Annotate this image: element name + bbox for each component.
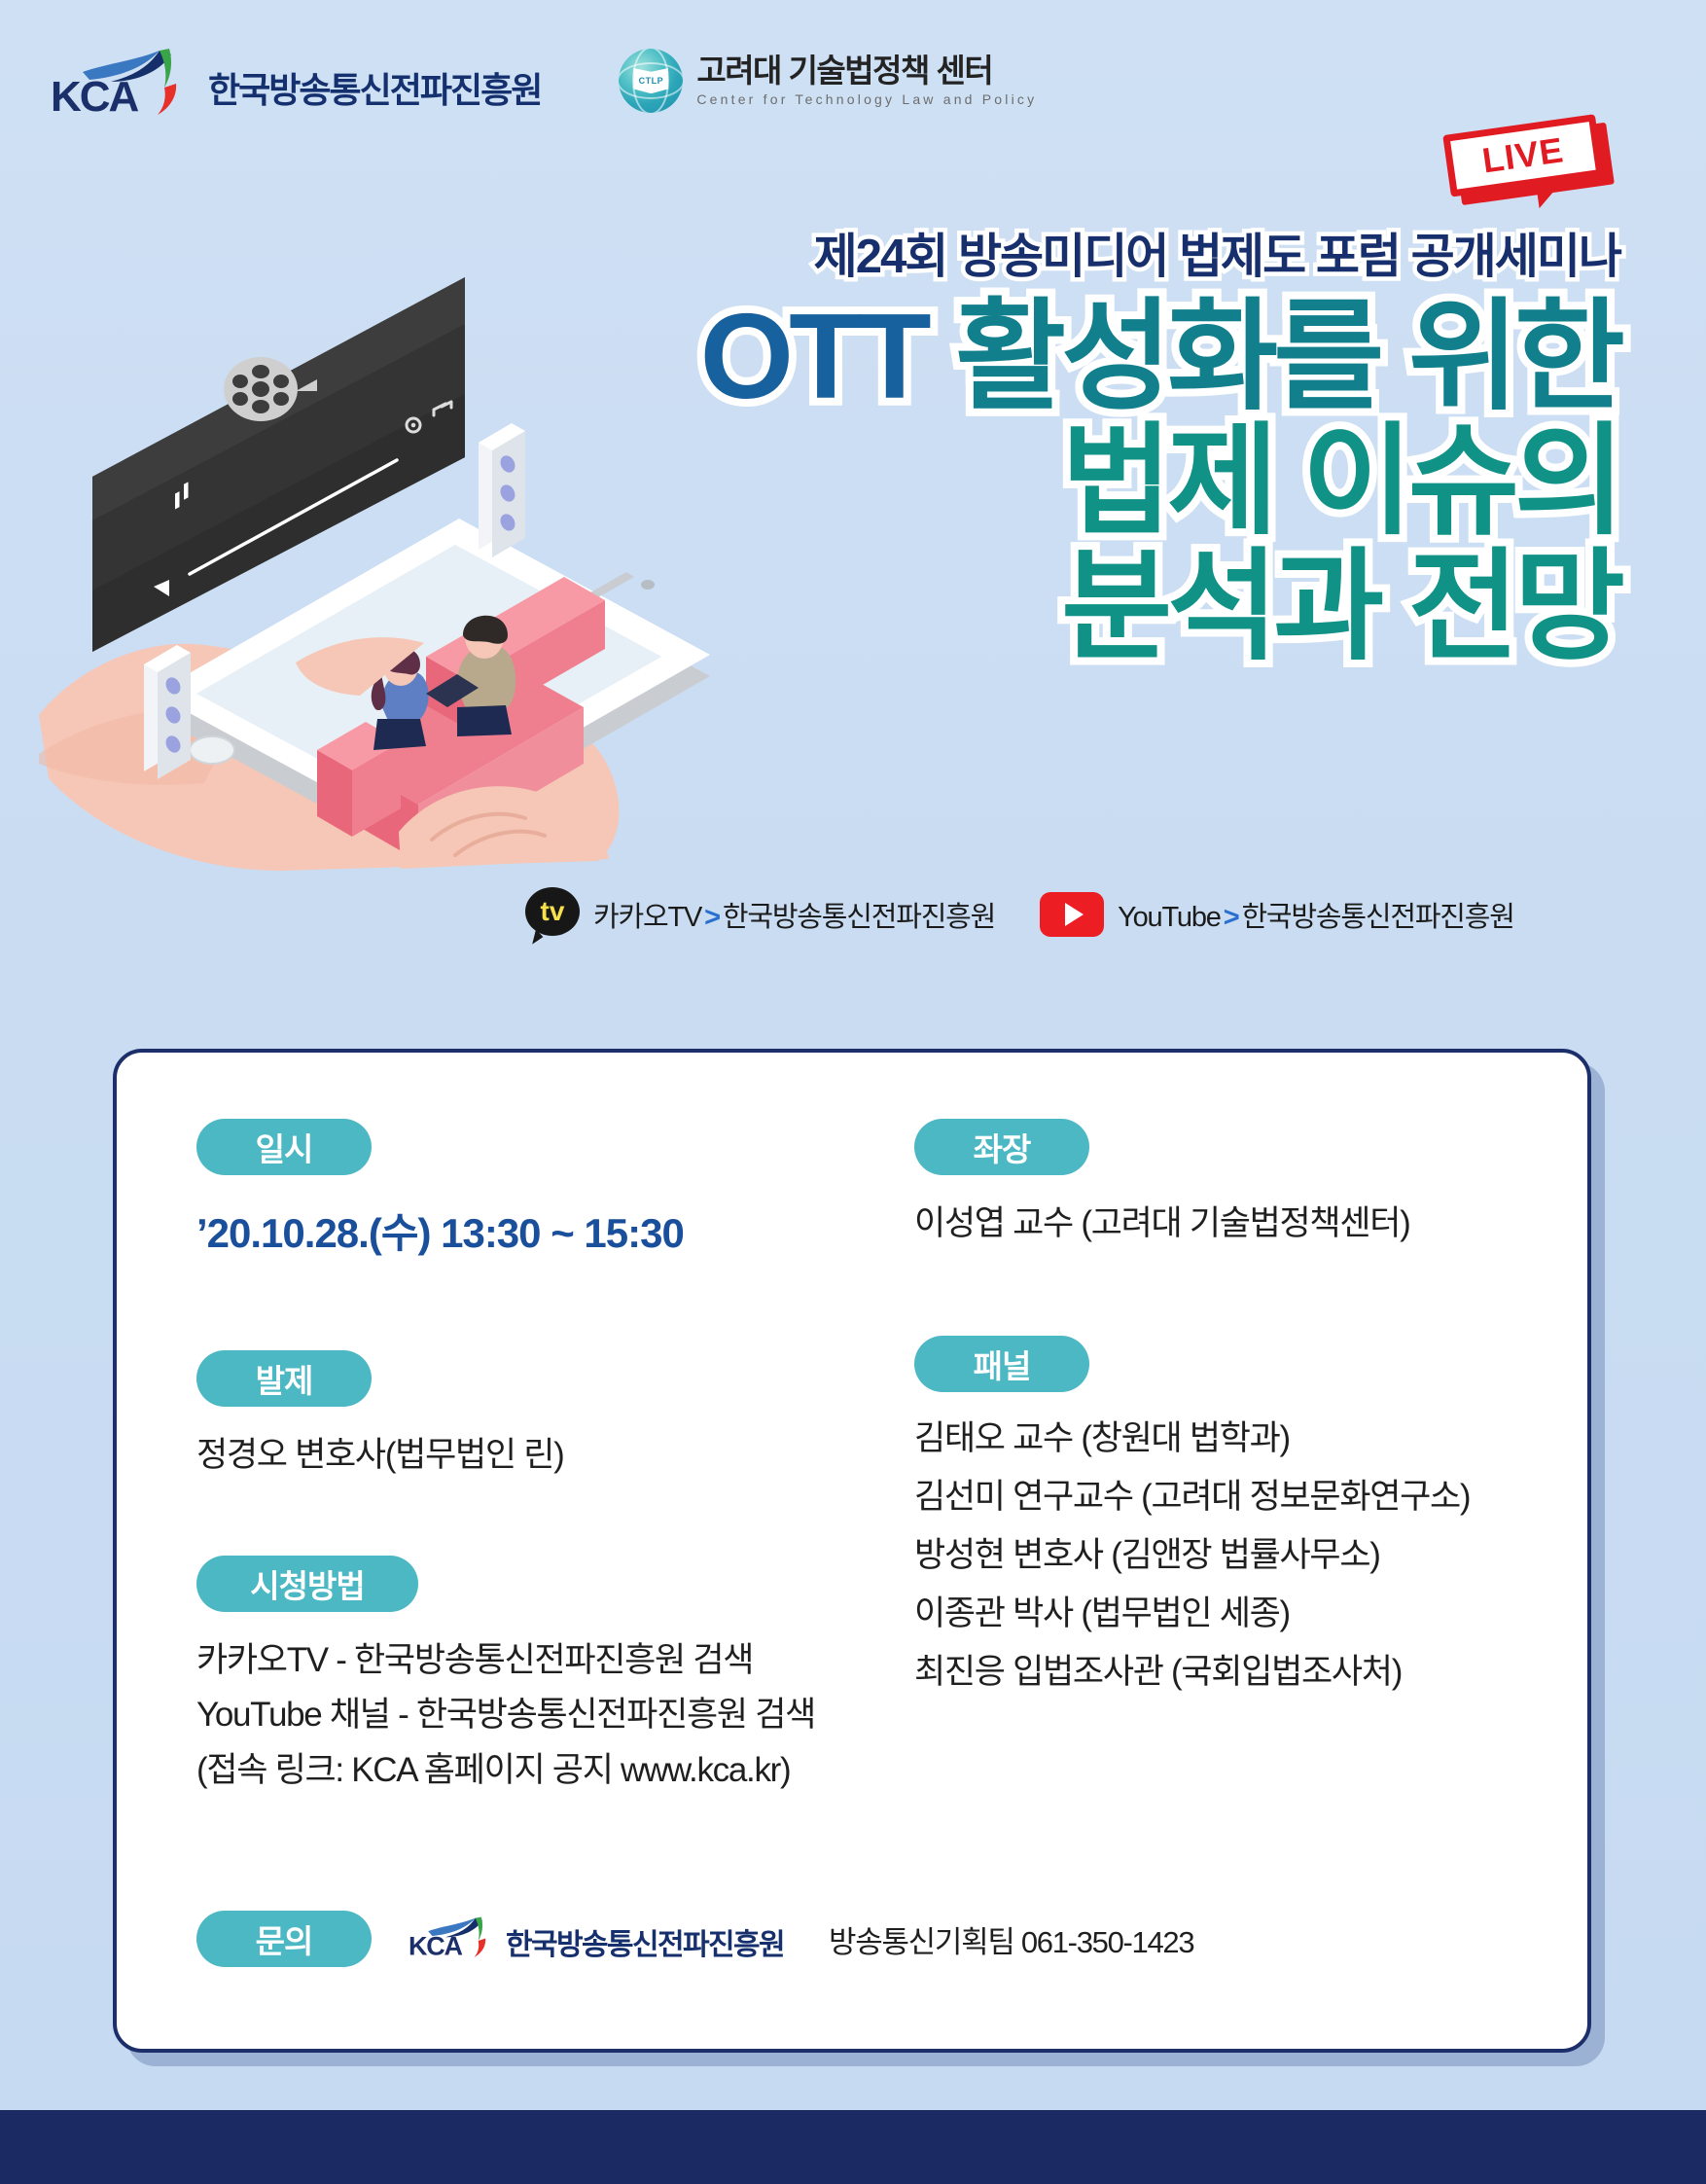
kakaotv-icon: tv [525,887,580,942]
kca-swoosh-icon: KCA [409,1915,498,1963]
howto-lines: 카카오TV - 한국방송통신전파진흥원 검색 YouTube 채널 - 한국방송… [196,1633,838,1799]
list-item: 방성현 변호사 (김앤장 법률사무소) [914,1526,1537,1585]
bottom-bar [0,2110,1706,2184]
datetime-value: ’20.10.28.(수) 13:30 ~ 15:30 [196,1200,838,1267]
broadcast-channels-row: tv 카카오TV>한국방송통신전파진흥원 YouTube>한국방송통신전파진흥원 [525,887,1514,942]
presenter-block: 발제 정경오 변호사(법무법인 린) [196,1350,838,1484]
youtube-channel: 한국방송통신전파진흥원 [1241,902,1513,933]
chevron-right-icon: > [701,902,723,933]
ctlp-globe-icon: CTLP [619,49,683,113]
speaker-tower-right [479,423,525,557]
panel-badge: 패널 [914,1336,1089,1392]
kakaotv-platform: 카카오TV [593,902,701,933]
datetime-badge: 일시 [196,1119,372,1175]
svg-text:KCA: KCA [51,73,139,117]
title-line-1: OTT 활성화를 위한 [570,296,1620,418]
contact-team-phone: 방송통신기획팀 061-350-1423 [829,1917,1193,1961]
svg-text:KCA: KCA [409,1932,462,1959]
ctlp-mark-text: CTLP [639,76,664,86]
kakaotv-mark-text: tv [541,898,565,925]
kca-logo: KCA 한국방송통신전파진흥원 [51,45,541,117]
chair-badge: 좌장 [914,1119,1089,1175]
kca-footer-logo: KCA 한국방송통신전파진흥원 [409,1915,784,1963]
howto-line: YouTube 채널 - 한국방송통신전파진흥원 검색 [196,1688,838,1743]
kakaotv-channel: 한국방송통신전파진흥원 [723,902,995,933]
title-ott: OTT [700,290,927,424]
kca-name-ko: 한국방송통신전파진흥원 [208,62,541,117]
channel-youtube-text: YouTube>한국방송통신전파진흥원 [1118,894,1514,935]
info-column-right: 좌장 이성엽 교수 (고려대 기술법정책센터) 패널 김태오 교수 (창원대 법… [914,1119,1537,1702]
howto-line: 카카오TV - 한국방송통신전파진흥원 검색 [196,1633,838,1689]
datetime-block: 일시 ’20.10.28.(수) 13:30 ~ 15:30 [196,1119,838,1267]
live-label: LIVE [1479,129,1566,181]
ctlp-text-block: 고려대 기술법정책 센터 Center for Technology Law a… [696,54,1037,107]
panel-block: 패널 김태오 교수 (창원대 법학과) 김선미 연구교수 (고려대 정보문화연구… [914,1336,1537,1702]
contact-badge: 문의 [196,1911,372,1967]
howto-line: (접속 링크: KCA 홈페이지 공지 www.kca.kr) [196,1743,838,1799]
info-column-left: 일시 ’20.10.28.(수) 13:30 ~ 15:30 발제 정경오 변호… [196,1119,838,1799]
channel-kakaotv-text: 카카오TV>한국방송통신전파진흥원 [593,894,995,935]
kca-footer-name: 한국방송통신전파진흥원 [506,1920,784,1963]
youtube-platform: YouTube [1118,902,1221,933]
presenter-badge: 발제 [196,1350,372,1407]
ctlp-name-en: Center for Technology Law and Policy [696,91,1037,107]
ctlp-logo: CTLP 고려대 기술법정책 센터 Center for Technology … [619,49,1037,113]
panel-member-list: 김태오 교수 (창원대 법학과) 김선미 연구교수 (고려대 정보문화연구소) … [914,1410,1537,1702]
howto-badge: 시청방법 [196,1556,418,1612]
list-item: 최진응 입법조사관 (국회입법조사처) [914,1643,1537,1701]
title-line-3: 분석과 전망 [570,546,1620,668]
title-line-1-rest: 활성화를 위한 [955,290,1620,424]
seminar-info-card: 일시 ’20.10.28.(수) 13:30 ~ 15:30 발제 정경오 변호… [113,1049,1591,2053]
channel-kakaotv[interactable]: tv 카카오TV>한국방송통신전파진흥원 [525,887,995,942]
seminar-eyebrow: 제24회 방송미디어 법제도 포럼 공개세미나 [570,232,1620,284]
title-line-2: 법제 이슈의 [570,420,1620,543]
howto-block: 시청방법 카카오TV - 한국방송통신전파진흥원 검색 YouTube 채널 -… [196,1556,838,1799]
channel-youtube[interactable]: YouTube>한국방송통신전파진흥원 [1040,892,1514,937]
chevron-right-icon: > [1221,902,1242,933]
presenter-value: 정경오 변호사(법무법인 린) [196,1428,838,1484]
list-item: 김선미 연구교수 (고려대 정보문화연구소) [914,1468,1537,1526]
chair-value: 이성엽 교수 (고려대 기술법정책센터) [914,1197,1537,1252]
youtube-icon [1040,892,1104,937]
list-item: 이종관 박사 (법무법인 세종) [914,1585,1537,1643]
speaker-tower-left [144,645,191,779]
chair-block: 좌장 이성엽 교수 (고려대 기술법정책센터) [914,1119,1537,1252]
ctlp-name-ko: 고려대 기술법정책 센터 [696,54,1037,89]
list-item: 김태오 교수 (창원대 법학과) [914,1410,1537,1468]
organizer-logo-row: KCA 한국방송통신전파진흥원 CTLP 고려대 기술법정책 센터 Center… [51,45,1037,117]
live-badge: LIVE [1445,123,1630,230]
contact-row: 문의 KCA 한국방송통신전파진흥원 방송통신기획팀 061-350-1423 [196,1911,1193,1967]
kca-swoosh-icon: KCA [51,45,196,117]
poster-root: KCA 한국방송통신전파진흥원 CTLP 고려대 기술법정책 센터 Center… [0,0,1706,2184]
hero-title-block: 제24회 방송미디어 법제도 포럼 공개세미나 OTT 활성화를 위한 법제 이… [570,232,1620,668]
